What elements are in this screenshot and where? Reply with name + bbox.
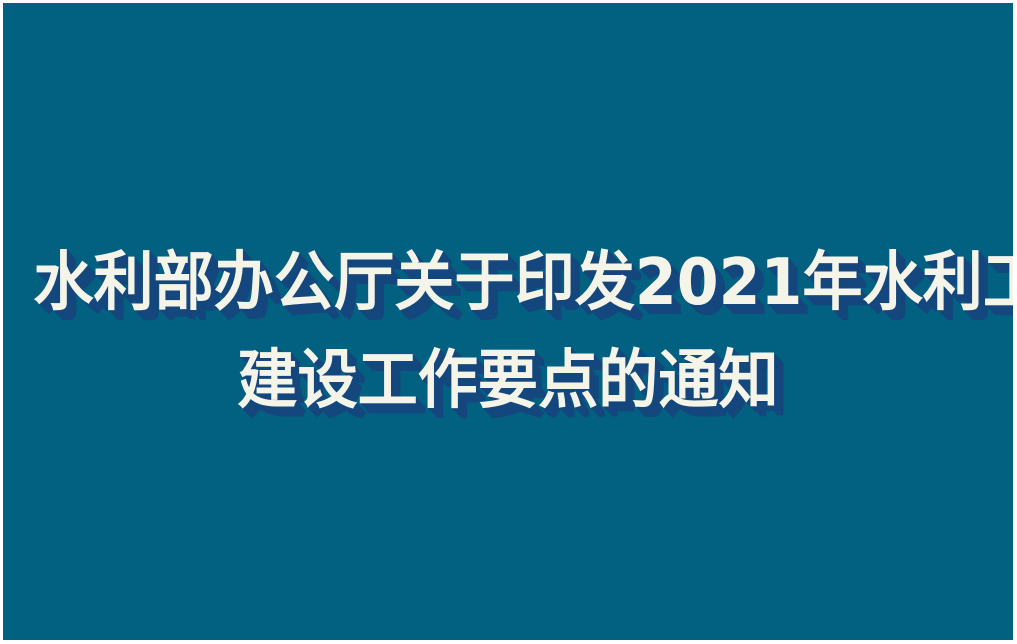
title-line-2: 建设工作要点的通知 [33, 344, 982, 418]
title-block: 水利部办公厅关于印发2021年水利工程 建设工作要点的通知 [3, 246, 1013, 418]
title-line-1: 水利部办公厅关于印发2021年水利工程 [33, 246, 982, 320]
banner-panel: 水利部办公厅关于印发2021年水利工程 建设工作要点的通知 [3, 3, 1013, 640]
banner-frame: 水利部办公厅关于印发2021年水利工程 建设工作要点的通知 [0, 0, 1017, 644]
